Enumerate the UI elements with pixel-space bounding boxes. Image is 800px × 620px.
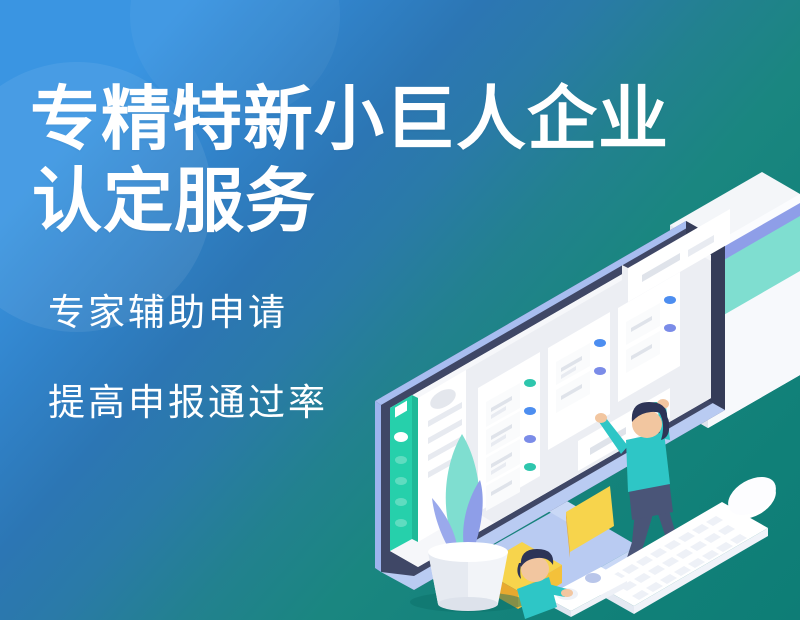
headline-line-1: 专精特新小巨人企业 bbox=[30, 78, 510, 160]
subtitle-item-1: 专家辅助申请 bbox=[48, 290, 510, 336]
headline-line-2: 认定服务 bbox=[32, 160, 510, 242]
subtitle-list: 专家辅助申请 提高申报通过率 bbox=[30, 290, 510, 426]
subtitle-item-2: 提高申报通过率 bbox=[48, 380, 510, 426]
promo-banner: 专精特新小巨人企业 认定服务 专家辅助申请 提高申报通过率 bbox=[0, 0, 800, 620]
person-with-laptop-icon bbox=[505, 545, 635, 620]
banner-text-block: 专精特新小巨人企业 认定服务 专家辅助申请 提高申报通过率 bbox=[30, 78, 510, 426]
